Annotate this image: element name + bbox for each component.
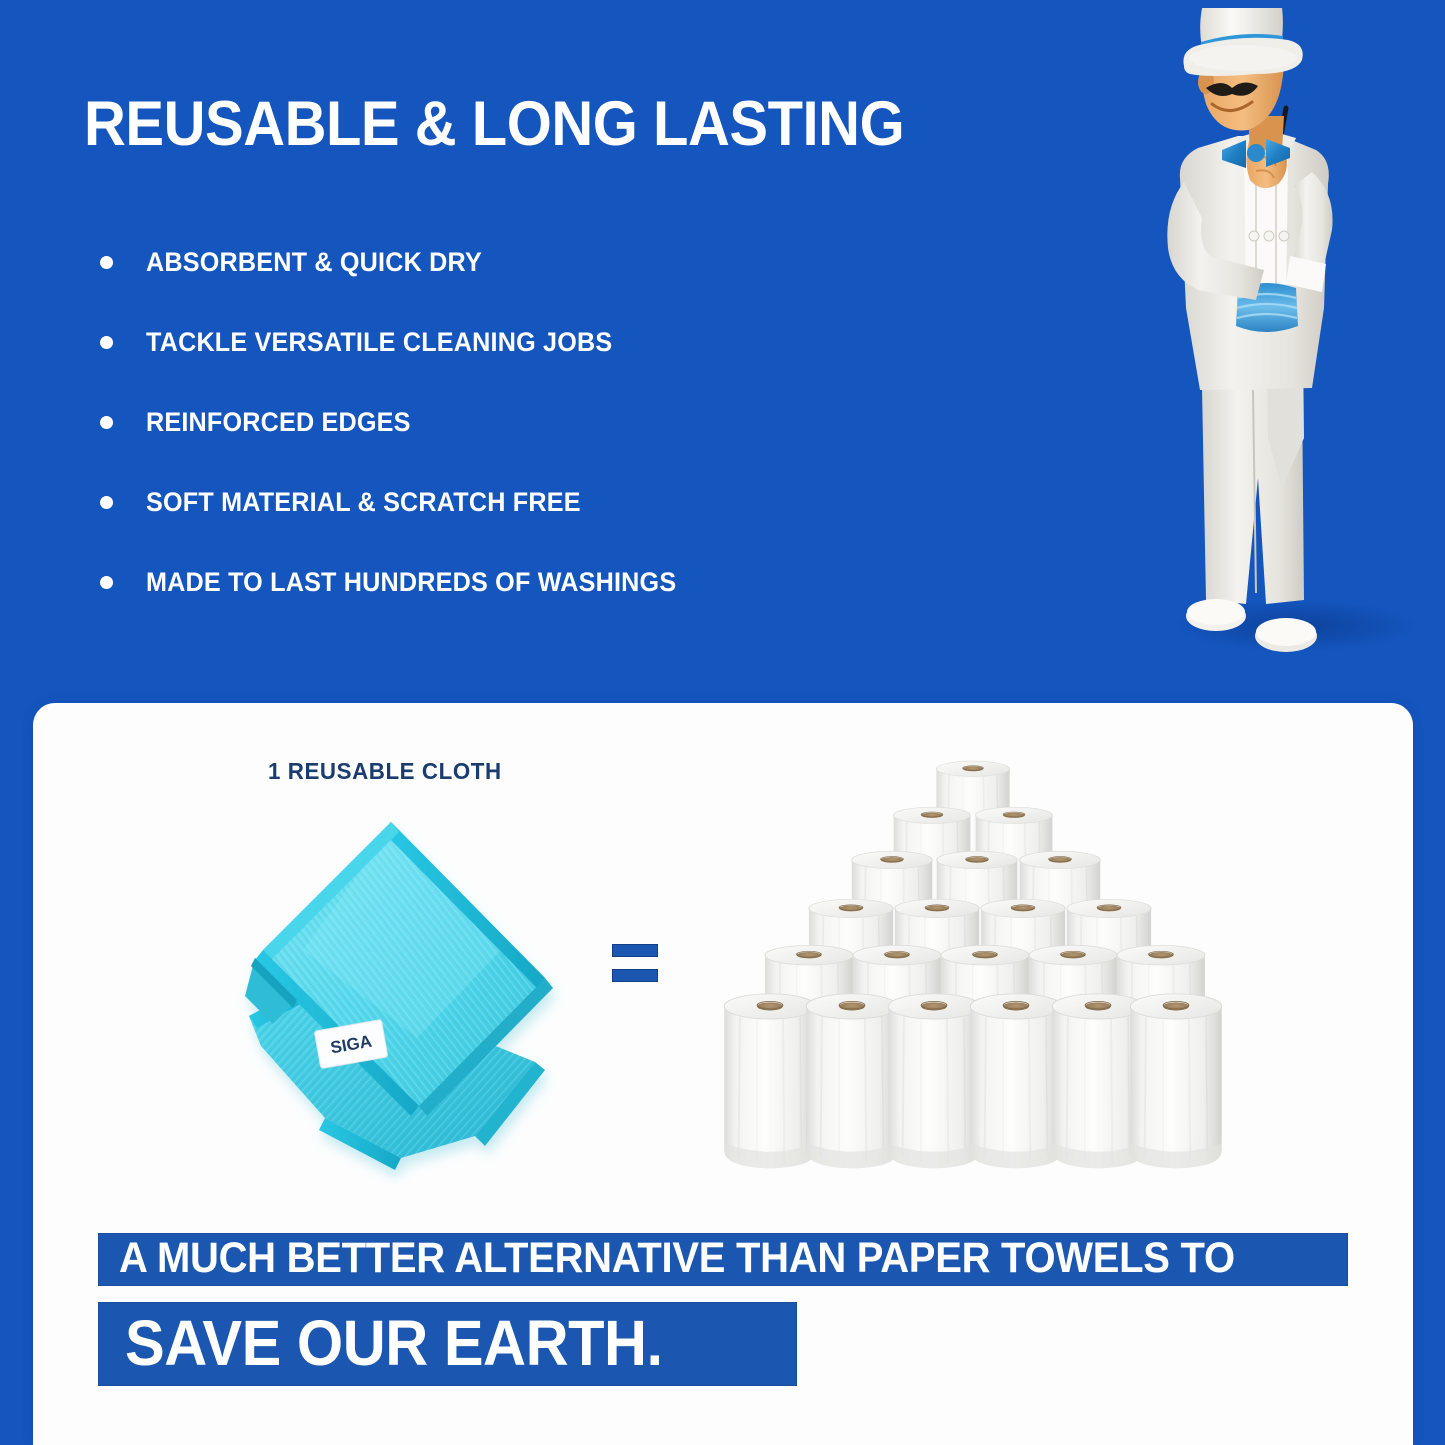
bullet-dot-icon (100, 496, 113, 509)
list-item: SOFT MATERIAL & SCRATCH FREE (84, 462, 904, 542)
microfiber-cloth-icon: SIGA (205, 800, 605, 1185)
feature-label: MADE TO LAST HUNDREDS OF WASHINGS (146, 567, 676, 598)
banner-text-1: A MUCH BETTER ALTERNATIVE THAN PAPER TOW… (119, 1234, 1235, 1283)
feature-label: ABSORBENT & QUICK DRY (146, 247, 482, 278)
list-item: TACKLE VERSATILE CLEANING JOBS (84, 302, 904, 382)
bullet-dot-icon (100, 576, 113, 589)
equals-sign-icon (612, 944, 662, 986)
list-item: ABSORBENT & QUICK DRY (84, 222, 904, 302)
roll-row-bottom (724, 994, 1221, 1169)
banner-line-2: SAVE OUR EARTH. (98, 1302, 797, 1386)
mascot-gentleman-icon (1106, 8, 1426, 668)
bullet-dot-icon (100, 256, 113, 269)
feature-list: ABSORBENT & QUICK DRY TACKLE VERSATILE C… (84, 222, 904, 622)
bullet-dot-icon (100, 416, 113, 429)
feature-label: TACKLE VERSATILE CLEANING JOBS (146, 327, 612, 358)
equals-bar-top (612, 944, 658, 957)
banner-line-1: A MUCH BETTER ALTERNATIVE THAN PAPER TOW… (98, 1233, 1348, 1286)
top-feature-panel: REUSABLE & LONG LASTING ABSORBENT & QUIC… (0, 0, 1445, 703)
list-item: REINFORCED EDGES (84, 382, 904, 462)
equals-bar-bottom (612, 969, 658, 982)
paper-towel-roll-pyramid (718, 758, 1228, 1198)
cloth-count-label: 1 REUSABLE CLOTH (268, 758, 502, 785)
page-title: REUSABLE & LONG LASTING (84, 93, 904, 156)
feature-label: SOFT MATERIAL & SCRATCH FREE (146, 487, 581, 518)
bullet-dot-icon (100, 336, 113, 349)
infographic-page: REUSABLE & LONG LASTING ABSORBENT & QUIC… (0, 0, 1445, 1445)
feature-label: REINFORCED EDGES (146, 407, 411, 438)
banner-text-2: SAVE OUR EARTH. (125, 1306, 663, 1380)
list-item: MADE TO LAST HUNDREDS OF WASHINGS (84, 542, 904, 622)
left-blue-rail (0, 703, 33, 1445)
right-blue-rail (1412, 703, 1445, 1445)
